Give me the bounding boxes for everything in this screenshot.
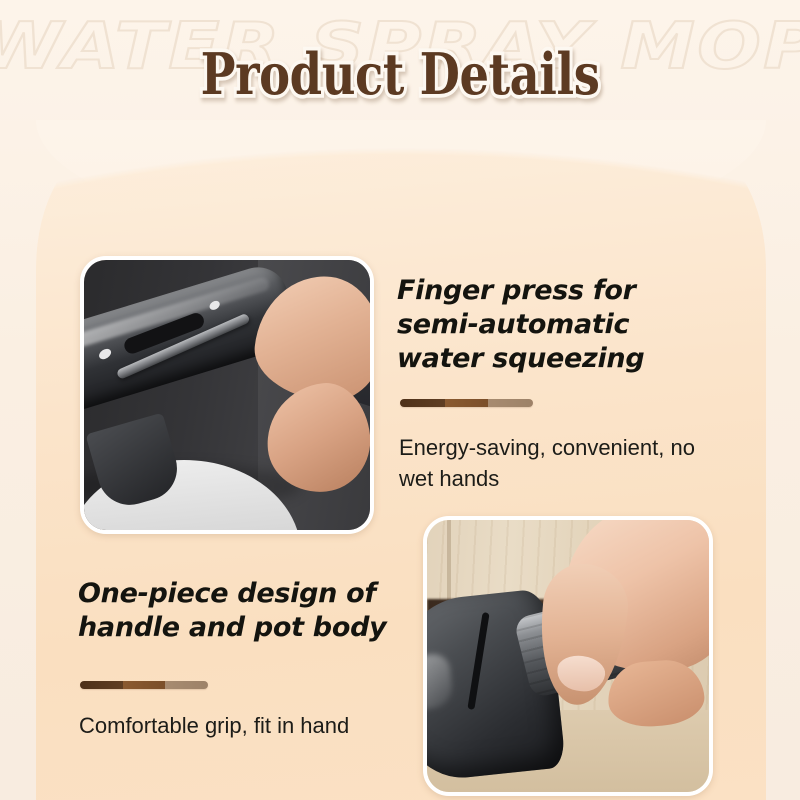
product-details-page: WATER SPRAY MOP Product Details Finger p… xyxy=(0,0,800,800)
feature-divider-2 xyxy=(80,681,208,689)
divider-segment-medium xyxy=(445,399,488,407)
feature-headline-one-piece-design: One-piece design of handle and pot body xyxy=(78,577,408,645)
page-title: Product Details xyxy=(56,40,744,108)
scene1-highlight-dot-a xyxy=(97,347,113,362)
divider-segment-dark xyxy=(400,399,445,407)
feature-divider-1 xyxy=(400,399,533,407)
scene2-head-highlight xyxy=(423,653,454,712)
feature-image-one-piece-design xyxy=(423,516,713,796)
scene-grip xyxy=(427,520,709,792)
divider-segment-light xyxy=(165,681,208,689)
divider-segment-dark xyxy=(80,681,123,689)
feature-headline-finger-press: Finger press for semi-automatic water sq… xyxy=(397,274,707,376)
scene-finger-press xyxy=(84,260,370,530)
feature-subtext-one-piece-design: Comfortable grip, fit in hand xyxy=(79,710,424,741)
feature-subtext-finger-press: Energy-saving, convenient, no wet hands xyxy=(399,432,729,494)
divider-segment-light xyxy=(488,399,533,407)
feature-image-finger-press xyxy=(80,256,374,534)
divider-segment-medium xyxy=(123,681,164,689)
